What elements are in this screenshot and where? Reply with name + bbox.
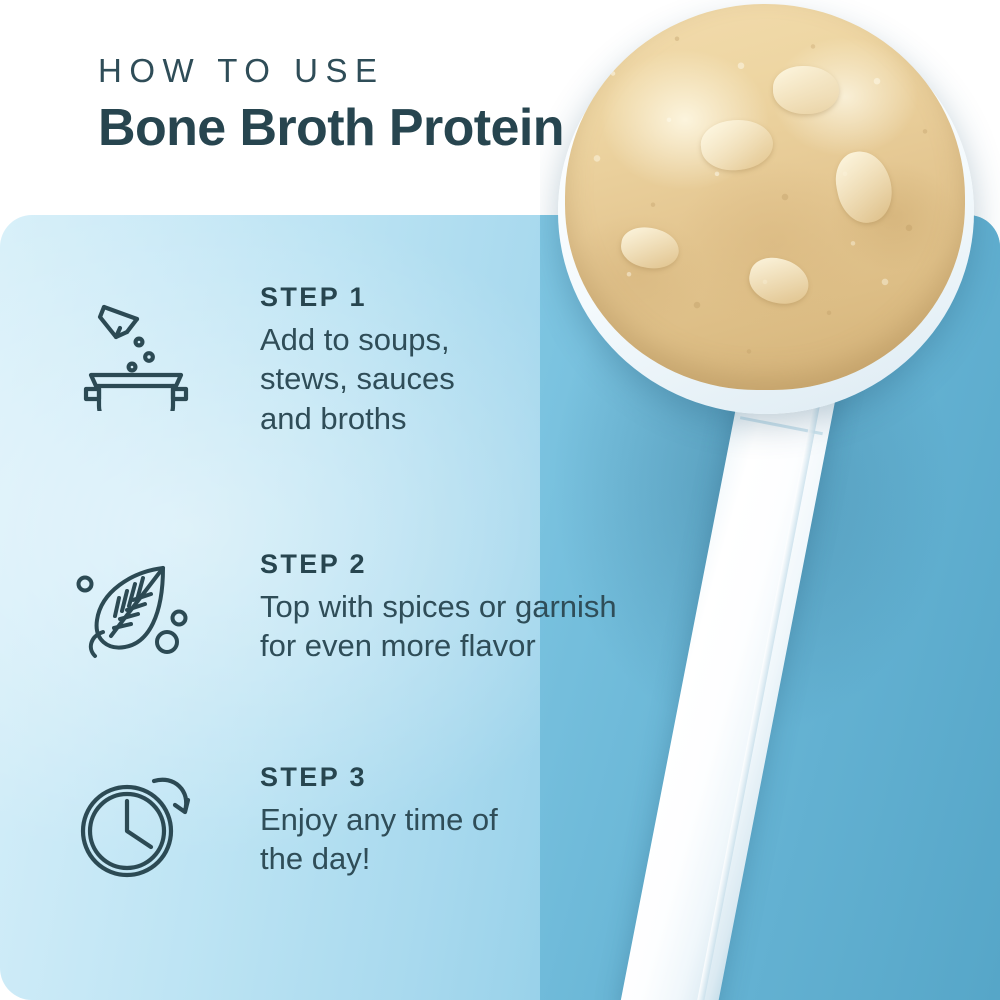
- step-item-2: STEP 2 Top with spices or garnish for ev…: [70, 550, 617, 668]
- page-title: Bone Broth Protein: [98, 99, 818, 157]
- step-item-3: STEP 3 Enjoy any time of the day!: [70, 763, 498, 881]
- step-description: Enjoy any time of the day!: [260, 800, 498, 879]
- pot-with-scoop-icon: [70, 283, 202, 411]
- step-description: Add to soups, stews, sauces and broths: [260, 320, 455, 439]
- steps-list: STEP 1 Add to soups, stews, sauces and b…: [0, 215, 780, 1000]
- header: HOW TO USE Bone Broth Protein: [98, 52, 818, 157]
- step-text-3: STEP 3 Enjoy any time of the day!: [202, 763, 498, 879]
- eyebrow-text: HOW TO USE: [98, 52, 818, 90]
- step-text-2: STEP 2 Top with spices or garnish for ev…: [202, 550, 617, 666]
- step-description: Top with spices or garnish for even more…: [260, 587, 617, 666]
- step-text-1: STEP 1 Add to soups, stews, sauces and b…: [202, 283, 455, 439]
- infographic-canvas: HOW TO USE Bone Broth Protein: [0, 0, 1000, 1000]
- leaf-herb-icon: [70, 550, 202, 668]
- step-item-1: STEP 1 Add to soups, stews, sauces and b…: [70, 283, 455, 439]
- clock-refresh-icon: [70, 763, 202, 881]
- step-label: STEP 3: [260, 763, 498, 793]
- step-label: STEP 1: [260, 283, 455, 313]
- step-label: STEP 2: [260, 550, 617, 580]
